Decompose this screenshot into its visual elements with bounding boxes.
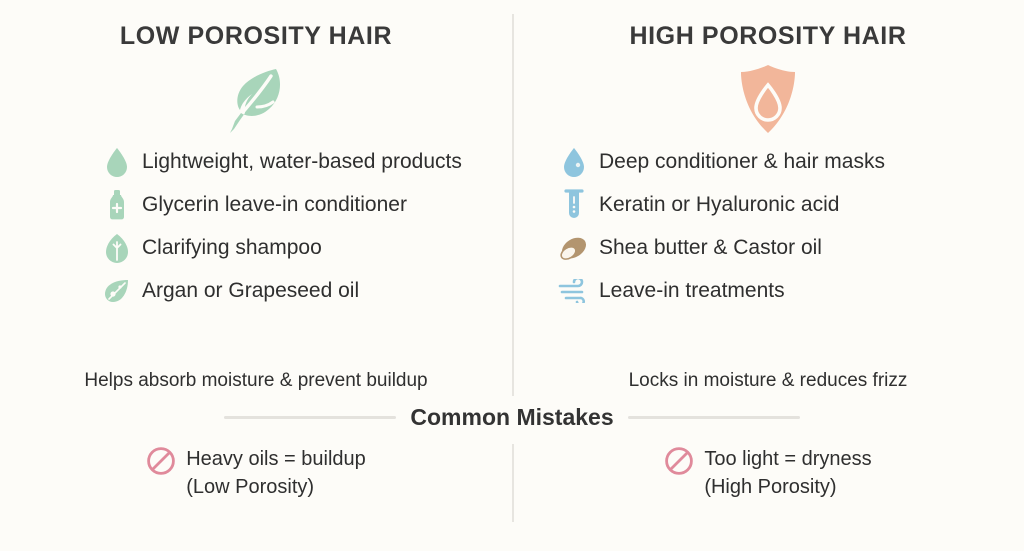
high-porosity-title: HIGH POROSITY HAIR [629,22,906,51]
list-item-label: Deep conditioner & hair masks [591,147,885,176]
mistake-line1: Too light = dryness [704,448,871,470]
high-porosity-list: Deep conditioner & hair masks Keratin or… [512,147,1024,319]
divider-right [628,416,800,419]
test-tube-icon [557,188,591,222]
porosity-columns: LOW POROSITY HAIR Lightweight, water-bas… [0,0,1024,400]
low-porosity-title: LOW POROSITY HAIR [120,22,392,51]
common-mistakes-header: Common Mistakes [0,404,1024,431]
list-item-label: Leave-in treatments [591,276,785,305]
common-mistakes-rows: Heavy oils = buildup(Low Porosity) Too l… [0,445,1024,501]
list-item: Clarifying shampoo [0,233,512,265]
list-item-label: Lightweight, water-based products [134,147,462,176]
list-item: Glycerin leave-in conditioner [0,190,512,222]
bottle-plus-icon [100,188,134,222]
list-item: Deep conditioner & hair masks [512,147,1024,179]
list-item: Too light = dryness(High Porosity) [664,445,871,501]
mistake-line1: Heavy oils = buildup [186,448,366,470]
shield-droplet-icon [736,63,800,135]
mistake-label: Heavy oils = buildup(Low Porosity) [176,445,366,501]
mistake-label: Too light = dryness(High Porosity) [694,445,871,501]
low-porosity-column: LOW POROSITY HAIR Lightweight, water-bas… [0,0,512,400]
shea-nut-icon [557,231,591,265]
list-item-label: Shea butter & Castor oil [591,233,822,262]
low-porosity-list: Lightweight, water-based products Glycer… [0,147,512,319]
water-drop-icon [557,145,591,179]
list-item-label: Glycerin leave-in conditioner [134,190,407,219]
list-item-label: Argan or Grapeseed oil [134,276,359,305]
list-item-label: Keratin or Hyaluronic acid [591,190,839,219]
common-mistakes-title: Common Mistakes [410,404,613,431]
high-porosity-column: HIGH POROSITY HAIR Deep conditioner & h [512,0,1024,400]
no-entry-icon [664,446,694,476]
low-porosity-summary: Helps absorb moisture & prevent buildup [84,370,427,392]
oil-leaf-icon [100,274,134,308]
wind-icon [557,274,591,308]
feather-icon [223,63,289,135]
mistake-line2: (Low Porosity) [186,476,314,498]
list-item: Heavy oils = buildup(Low Porosity) [146,445,366,501]
divider-left [224,416,396,419]
list-item: Argan or Grapeseed oil [0,276,512,308]
no-entry-icon [146,446,176,476]
high-porosity-summary: Locks in moisture & reduces frizz [629,370,908,392]
mistake-column-high: Too light = dryness(High Porosity) [512,445,1024,501]
porosity-infographic: LOW POROSITY HAIR Lightweight, water-bas… [0,0,1024,551]
list-item: Leave-in treatments [512,276,1024,308]
leaf-icon [100,231,134,265]
mistake-column-low: Heavy oils = buildup(Low Porosity) [0,445,512,501]
list-item: Lightweight, water-based products [0,147,512,179]
droplet-icon [100,145,134,179]
list-item: Keratin or Hyaluronic acid [512,190,1024,222]
mistake-line2: (High Porosity) [704,476,836,498]
common-mistakes-section: Common Mistakes Heavy oils = buildup(Low… [0,404,1024,501]
list-item-label: Clarifying shampoo [134,233,322,262]
list-item: Shea butter & Castor oil [512,233,1024,265]
